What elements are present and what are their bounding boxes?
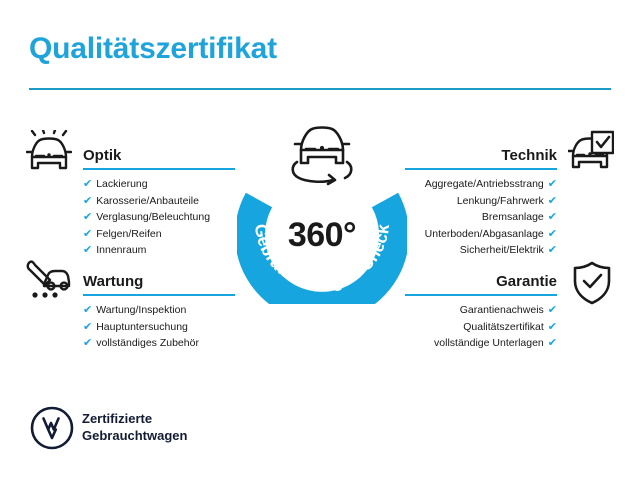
check-icon: ✔ bbox=[83, 195, 92, 207]
check-icon: ✔ bbox=[83, 321, 92, 333]
section-garantie-divider bbox=[405, 294, 557, 296]
section-wartung-list: ✔Wartung/Inspektion ✔Hauptuntersuchung ✔… bbox=[83, 302, 235, 352]
list-item-label: Aggregate/Antriebsstrang bbox=[425, 178, 544, 190]
list-item: Aggregate/Antriebsstrang✔ bbox=[405, 176, 557, 193]
shield-check-icon bbox=[572, 261, 612, 310]
list-item-label: Sicherheit/Elektrik bbox=[460, 244, 544, 256]
vw-logo-icon bbox=[30, 406, 74, 450]
list-item-label: Wartung/Inspektion bbox=[96, 304, 186, 316]
list-item-label: Karosserie/Anbauteile bbox=[96, 195, 199, 207]
list-item: Bremsanlage✔ bbox=[405, 209, 557, 226]
section-optik-head: Optik bbox=[83, 140, 235, 166]
brand-text: Zertifizierte Gebrauchtwagen bbox=[82, 410, 187, 444]
car-shine-icon bbox=[26, 130, 72, 179]
section-wartung: Wartung ✔Wartung/Inspektion ✔Hauptunters… bbox=[83, 266, 235, 292]
section-garantie-title: Garantie bbox=[496, 273, 557, 290]
list-item: ✔Wartung/Inspektion bbox=[83, 302, 235, 319]
page-title: Qualitätszertifikat bbox=[29, 32, 277, 66]
section-wartung-divider bbox=[83, 294, 235, 296]
section-technik-head: Technik bbox=[405, 140, 557, 166]
list-item: Garantienachweis✔ bbox=[405, 302, 557, 319]
list-item-label: Felgen/Reifen bbox=[96, 228, 161, 240]
section-technik: Technik Aggregate/Antriebsstrang✔ Lenkun… bbox=[405, 140, 557, 166]
certificate-page: Qualitätszertifikat bbox=[0, 0, 640, 480]
check-icon: ✔ bbox=[83, 211, 92, 223]
check-icon: ✔ bbox=[548, 244, 557, 256]
section-wartung-head: Wartung bbox=[83, 266, 235, 292]
check-icon: ✔ bbox=[83, 228, 92, 240]
list-item-label: Verglasung/Beleuchtung bbox=[96, 211, 210, 223]
list-item-label: Innenraum bbox=[96, 244, 146, 256]
list-item: ✔Hauptuntersuchung bbox=[83, 319, 235, 336]
section-wartung-title: Wartung bbox=[83, 273, 143, 290]
section-garantie-head: Garantie bbox=[405, 266, 557, 292]
car-checkbox-icon bbox=[568, 130, 614, 179]
brand-line-1: Zertifizierte bbox=[82, 410, 187, 427]
header-divider bbox=[29, 88, 611, 90]
check-icon: ✔ bbox=[548, 304, 557, 316]
list-item: Qualitätszertifikat✔ bbox=[405, 319, 557, 336]
car-front-rotate-icon bbox=[283, 118, 361, 192]
brand-lockup: Zertifizierte Gebrauchtwagen bbox=[30, 404, 230, 458]
list-item: ✔Innenraum bbox=[83, 242, 235, 259]
list-item-label: vollständiges Zubehör bbox=[96, 337, 199, 349]
list-item: Sicherheit/Elektrik✔ bbox=[405, 242, 557, 259]
list-item: ✔vollständiges Zubehör bbox=[83, 335, 235, 352]
check-icon: ✔ bbox=[83, 244, 92, 256]
check-icon: ✔ bbox=[548, 211, 557, 223]
check-icon: ✔ bbox=[548, 321, 557, 333]
section-garantie-list: Garantienachweis✔ Qualitätszertifikat✔ v… bbox=[405, 302, 557, 352]
list-item: Lenkung/Fahrwerk✔ bbox=[405, 193, 557, 210]
list-item: ✔Karosserie/Anbauteile bbox=[83, 193, 235, 210]
section-optik-divider bbox=[83, 168, 235, 170]
check-icon: ✔ bbox=[83, 178, 92, 190]
check-icon: ✔ bbox=[83, 304, 92, 316]
wrench-car-lift-icon bbox=[26, 260, 72, 305]
list-item: ✔Verglasung/Beleuchtung bbox=[83, 209, 235, 226]
section-optik-title: Optik bbox=[83, 147, 121, 164]
section-technik-title: Technik bbox=[501, 147, 557, 164]
list-item-label: Bremsanlage bbox=[482, 211, 544, 223]
section-optik-list: ✔Lackierung ✔Karosserie/Anbauteile ✔Verg… bbox=[83, 176, 235, 259]
list-item: vollständige Unterlagen✔ bbox=[405, 335, 557, 352]
list-item-label: Unterboden/Abgasanlage bbox=[425, 228, 544, 240]
check-icon: ✔ bbox=[548, 178, 557, 190]
brand-line-2: Gebrauchtwagen bbox=[82, 427, 187, 444]
check-icon: ✔ bbox=[83, 337, 92, 349]
check-icon: ✔ bbox=[548, 228, 557, 240]
list-item-label: Lackierung bbox=[96, 178, 147, 190]
section-garantie: Garantie Garantienachweis✔ Qualitätszert… bbox=[405, 266, 557, 292]
list-item-label: Lenkung/Fahrwerk bbox=[457, 195, 544, 207]
list-item: Unterboden/Abgasanlage✔ bbox=[405, 226, 557, 243]
check-icon: ✔ bbox=[548, 195, 557, 207]
section-technik-divider bbox=[405, 168, 557, 170]
check-icon: ✔ bbox=[548, 337, 557, 349]
list-item-label: Hauptuntersuchung bbox=[96, 321, 188, 333]
list-item-label: Garantienachweis bbox=[460, 304, 544, 316]
badge-center-label: 360° bbox=[233, 216, 411, 255]
section-technik-list: Aggregate/Antriebsstrang✔ Lenkung/Fahrwe… bbox=[405, 176, 557, 259]
list-item-label: Qualitätszertifikat bbox=[463, 321, 544, 333]
list-item-label: vollständige Unterlagen bbox=[434, 337, 544, 349]
list-item: ✔Lackierung bbox=[83, 176, 235, 193]
360-check-badge: Gebrauchtwagen-Check 360° bbox=[233, 118, 411, 306]
list-item: ✔Felgen/Reifen bbox=[83, 226, 235, 243]
section-optik: Optik ✔Lackierung ✔Karosserie/Anbauteile… bbox=[83, 140, 235, 166]
